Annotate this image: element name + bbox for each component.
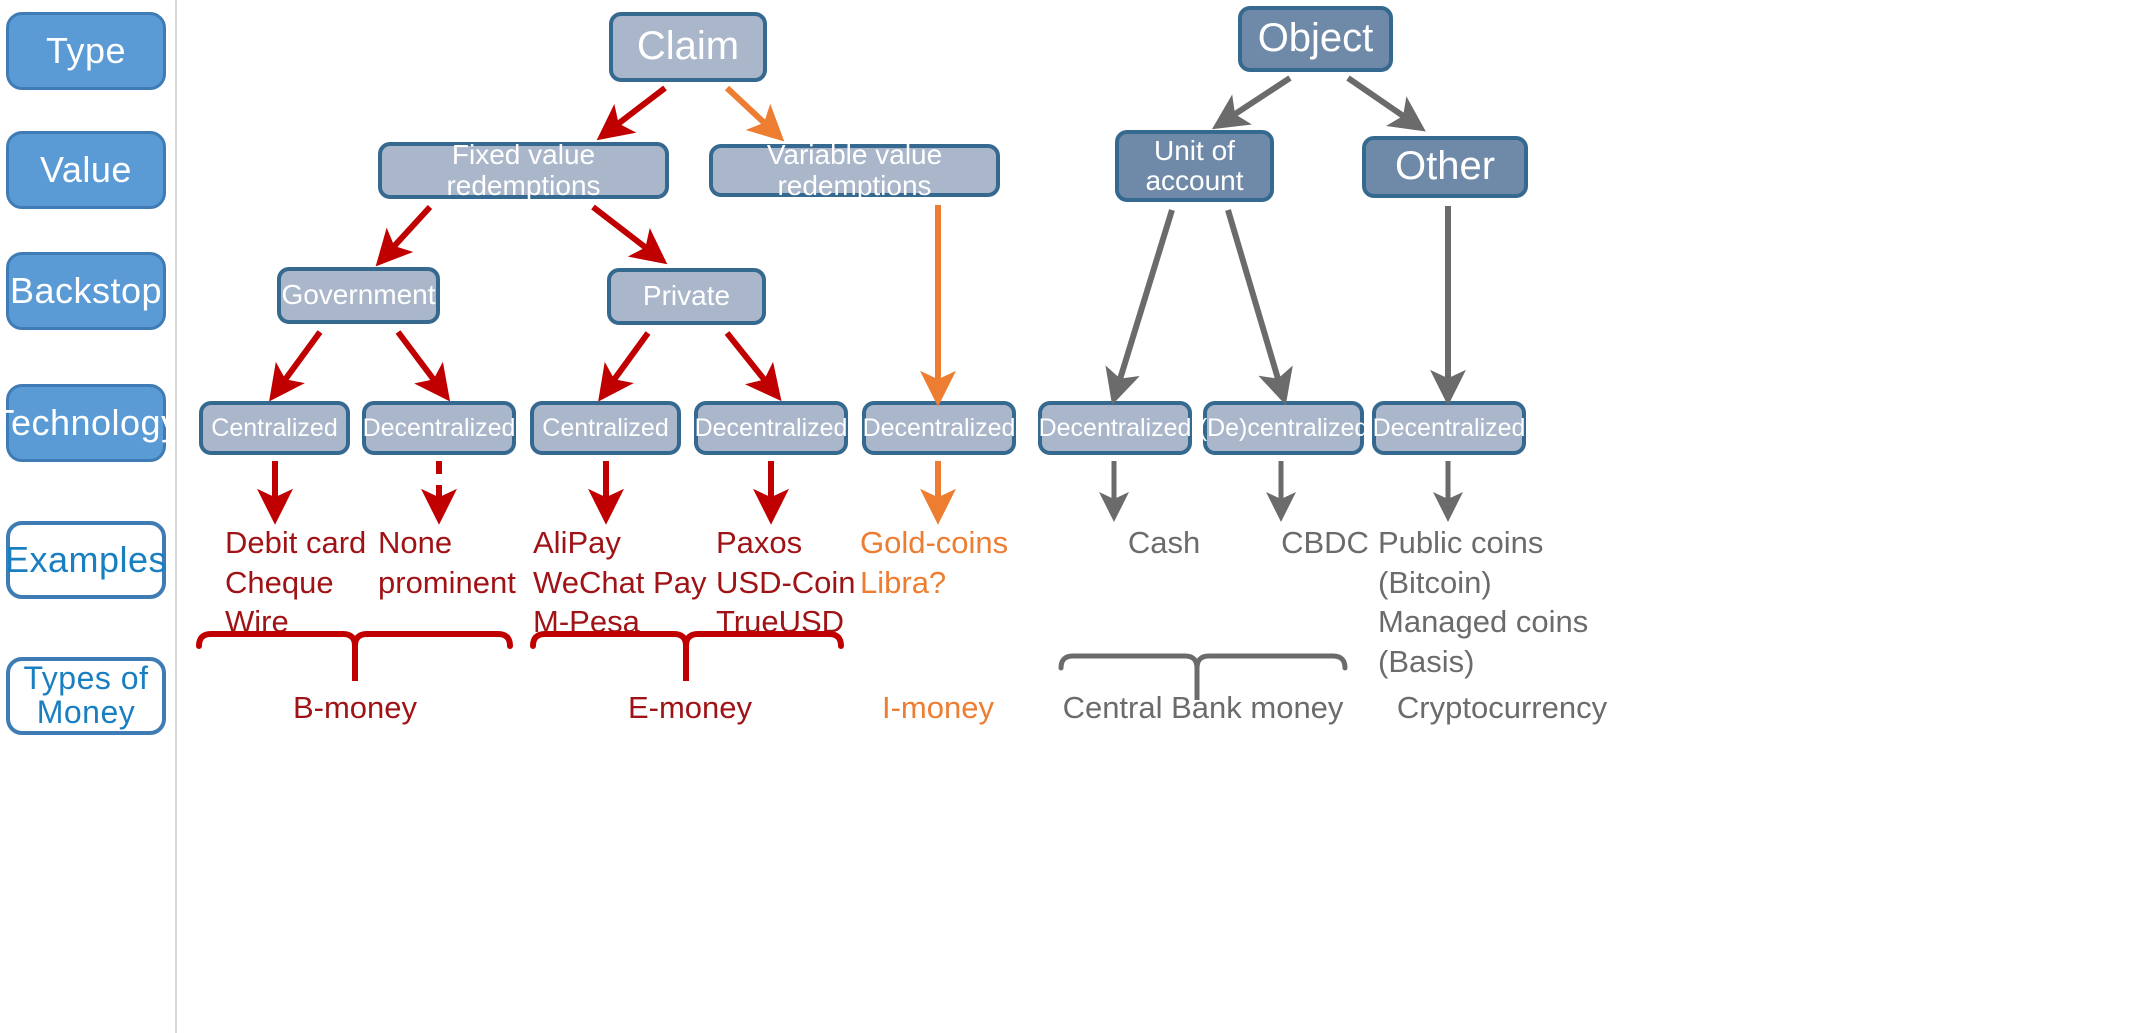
node-object[interactable]: Object	[1238, 6, 1393, 72]
brace-central-bank-money	[1061, 656, 1345, 668]
node-tech-private-decentralized-label: Decentralized	[695, 415, 848, 442]
node-tech-variable-decentralized-label: Decentralized	[863, 415, 1016, 442]
node-unit-of-account[interactable]: Unit of account	[1115, 130, 1274, 202]
arrow-government-to-decentralized	[398, 332, 440, 388]
row-label-backstop: Backstop	[6, 252, 166, 330]
money-type-e-money: E-money	[580, 688, 800, 728]
node-tech-private-centralized-label: Centralized	[542, 415, 668, 442]
node-other[interactable]: Other	[1362, 136, 1528, 198]
row-label-type-text: Type	[46, 32, 126, 70]
row-label-examples: Examples	[6, 521, 166, 599]
arrow-unit-of-account-to-de-centralized	[1228, 210, 1281, 389]
row-label-value: Value	[6, 131, 166, 209]
node-tech-uoa-de-centralized-label: (De)centralized	[1199, 415, 1369, 442]
money-type-central-bank-money: Central Bank money	[1048, 688, 1358, 728]
node-tech-other-decentralized[interactable]: Decentralized	[1372, 401, 1526, 455]
node-unit-of-account-label: Unit of account	[1145, 136, 1243, 196]
examples-variable-value: Gold-coins Libra?	[860, 523, 1060, 602]
node-claim-label: Claim	[637, 25, 739, 68]
node-tech-private-decentralized[interactable]: Decentralized	[694, 401, 848, 455]
node-other-label: Other	[1395, 145, 1495, 188]
node-tech-private-centralized[interactable]: Centralized	[530, 401, 681, 455]
arrow-government-to-centralized	[279, 332, 320, 388]
node-tech-gov-decentralized-label: Decentralized	[363, 415, 516, 442]
arrow-object-to-unit-of-account	[1226, 78, 1290, 120]
examples-cash: Cash	[1084, 523, 1244, 563]
node-tech-gov-centralized[interactable]: Centralized	[199, 401, 350, 455]
arrow-private-to-centralized	[608, 333, 648, 388]
arrow-object-to-other	[1348, 78, 1412, 122]
money-tree-diagram: Type Value Backstop Technology Examples …	[0, 0, 2145, 1033]
node-tech-uoa-de-centralized[interactable]: (De)centralized	[1203, 401, 1364, 455]
node-fixed-value-redemptions-label: Fixed value redemptions	[382, 140, 665, 200]
money-type-cryptocurrency: Cryptocurrency	[1372, 688, 1632, 728]
node-claim[interactable]: Claim	[609, 12, 767, 82]
node-variable-value-redemptions-label: Variable value redemptions	[713, 140, 996, 200]
node-variable-value-redemptions[interactable]: Variable value redemptions	[709, 144, 1000, 197]
connector-overlay	[0, 0, 2145, 1033]
node-tech-uoa-decentralized[interactable]: Decentralized	[1038, 401, 1192, 455]
node-private[interactable]: Private	[607, 268, 766, 325]
arrow-claim-to-variable-value	[727, 88, 772, 130]
node-object-label: Object	[1258, 17, 1374, 60]
row-label-value-text: Value	[40, 151, 132, 189]
arrow-claim-to-fixed-value	[610, 88, 665, 130]
row-label-types-of-money-text: Types of Money	[24, 662, 149, 729]
node-fixed-value-redemptions[interactable]: Fixed value redemptions	[378, 142, 669, 199]
row-label-technology-text: Technology	[0, 404, 180, 442]
row-label-examples-text: Examples	[5, 541, 167, 579]
node-tech-gov-centralized-label: Centralized	[211, 415, 337, 442]
row-label-technology: Technology	[6, 384, 166, 462]
arrow-private-to-decentralized	[727, 333, 771, 388]
node-government-label: Government	[281, 280, 435, 310]
row-label-type: Type	[6, 12, 166, 90]
row-label-types-of-money: Types of Money	[6, 657, 166, 735]
examples-other-coins: Public coins (Bitcoin) Managed coins (Ba…	[1378, 523, 1628, 682]
examples-private-centralized: AliPay WeChat Pay M-Pesa	[533, 523, 743, 642]
node-tech-other-decentralized-label: Decentralized	[1373, 415, 1526, 442]
node-tech-uoa-decentralized-label: Decentralized	[1039, 415, 1192, 442]
node-private-label: Private	[643, 281, 730, 311]
row-label-backstop-text: Backstop	[10, 272, 162, 310]
arrow-fixed-value-to-private	[593, 207, 654, 254]
node-government[interactable]: Government	[277, 267, 440, 324]
node-tech-gov-decentralized[interactable]: Decentralized	[362, 401, 516, 455]
arrow-fixed-value-to-government	[387, 207, 430, 254]
arrow-unit-of-account-to-decentralized	[1117, 210, 1172, 389]
money-type-b-money: B-money	[245, 688, 465, 728]
money-type-i-money: I-money	[838, 688, 1038, 728]
node-tech-variable-decentralized[interactable]: Decentralized	[862, 401, 1016, 455]
